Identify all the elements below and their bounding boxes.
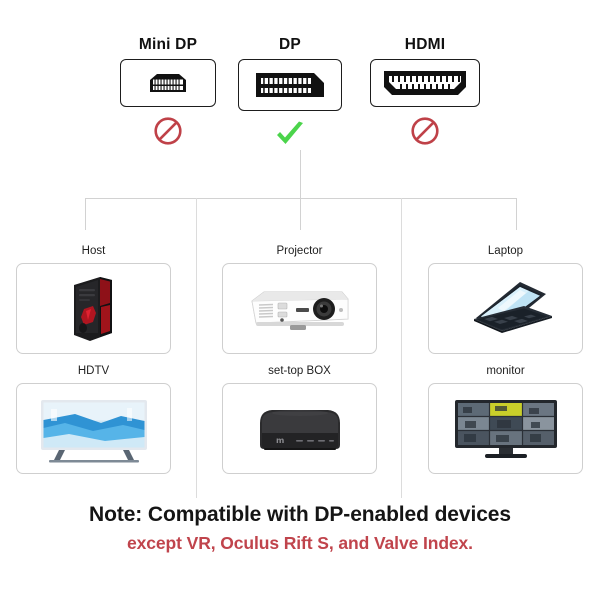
connector-port-box-hdmi	[370, 59, 480, 107]
note-line-primary: Note: Compatible with DP-enabled devices	[0, 500, 600, 530]
connector-label-hdmi: HDMI	[370, 36, 480, 54]
device-image-box-hdtv	[16, 383, 171, 474]
tree-trunk-line	[300, 150, 301, 198]
svg-text:m: m	[276, 436, 284, 445]
device-image-box-host	[16, 263, 171, 354]
device-cell-laptop[interactable]: Laptop	[428, 244, 583, 354]
connector-port-box-mini-dp	[120, 59, 216, 107]
mini-displayport-connector-icon	[146, 72, 190, 94]
device-cell-set-top-box[interactable]: set-top BOX m	[222, 364, 377, 474]
green-check-icon	[274, 120, 306, 150]
device-cell-host[interactable]: Host	[16, 244, 171, 354]
device-image-box-set-top-box: m	[222, 383, 377, 474]
device-label-set-top-box: set-top BOX	[222, 364, 377, 378]
hdtv-television-icon	[35, 394, 153, 464]
device-cell-monitor[interactable]: monitor	[428, 364, 583, 474]
device-label-projector: Projector	[222, 244, 377, 258]
connector-mini-dp[interactable]: Mini DP	[120, 36, 216, 148]
connector-port-box-dp	[238, 59, 342, 111]
connector-label-dp: DP	[238, 36, 342, 54]
hdmi-connector-icon	[382, 69, 468, 97]
prohibition-icon	[410, 116, 440, 146]
desktop-tower-pc-icon	[60, 273, 128, 345]
tree-branch-host	[85, 198, 86, 230]
footer-note: Note: Compatible with DP-enabled devices…	[0, 500, 600, 556]
laptop-icon	[454, 278, 558, 340]
device-label-hdtv: HDTV	[16, 364, 171, 378]
device-image-box-laptop	[428, 263, 583, 354]
device-label-host: Host	[16, 244, 171, 258]
connector-row: Mini DP	[0, 36, 600, 156]
projector-icon	[246, 283, 354, 335]
device-image-box-projector	[222, 263, 377, 354]
tree-branch-projector	[300, 198, 301, 230]
verdict-dp	[238, 118, 342, 152]
connector-hdmi[interactable]: HDMI	[370, 36, 480, 148]
diagram-canvas: Mini DP	[0, 0, 600, 600]
connector-dp[interactable]: DP	[238, 36, 342, 152]
device-label-laptop: Laptop	[428, 244, 583, 258]
verdict-hdmi	[370, 114, 480, 148]
prohibition-icon	[153, 116, 183, 146]
device-image-box-monitor	[428, 383, 583, 474]
note-line-exception: except VR, Oculus Rift S, and Valve Inde…	[0, 530, 600, 556]
verdict-mini-dp	[120, 114, 216, 148]
device-cell-projector[interactable]: Projector	[222, 244, 377, 354]
device-label-monitor: monitor	[428, 364, 583, 378]
tree-branch-laptop	[516, 198, 517, 230]
displayport-connector-icon	[254, 71, 326, 99]
device-cell-hdtv[interactable]: HDTV	[16, 364, 171, 474]
column-divider-right	[401, 198, 402, 498]
set-top-box-icon: m	[252, 401, 348, 457]
column-divider-left	[196, 198, 197, 498]
connector-label-mini-dp: Mini DP	[120, 36, 216, 54]
cctv-monitor-icon	[451, 396, 561, 462]
